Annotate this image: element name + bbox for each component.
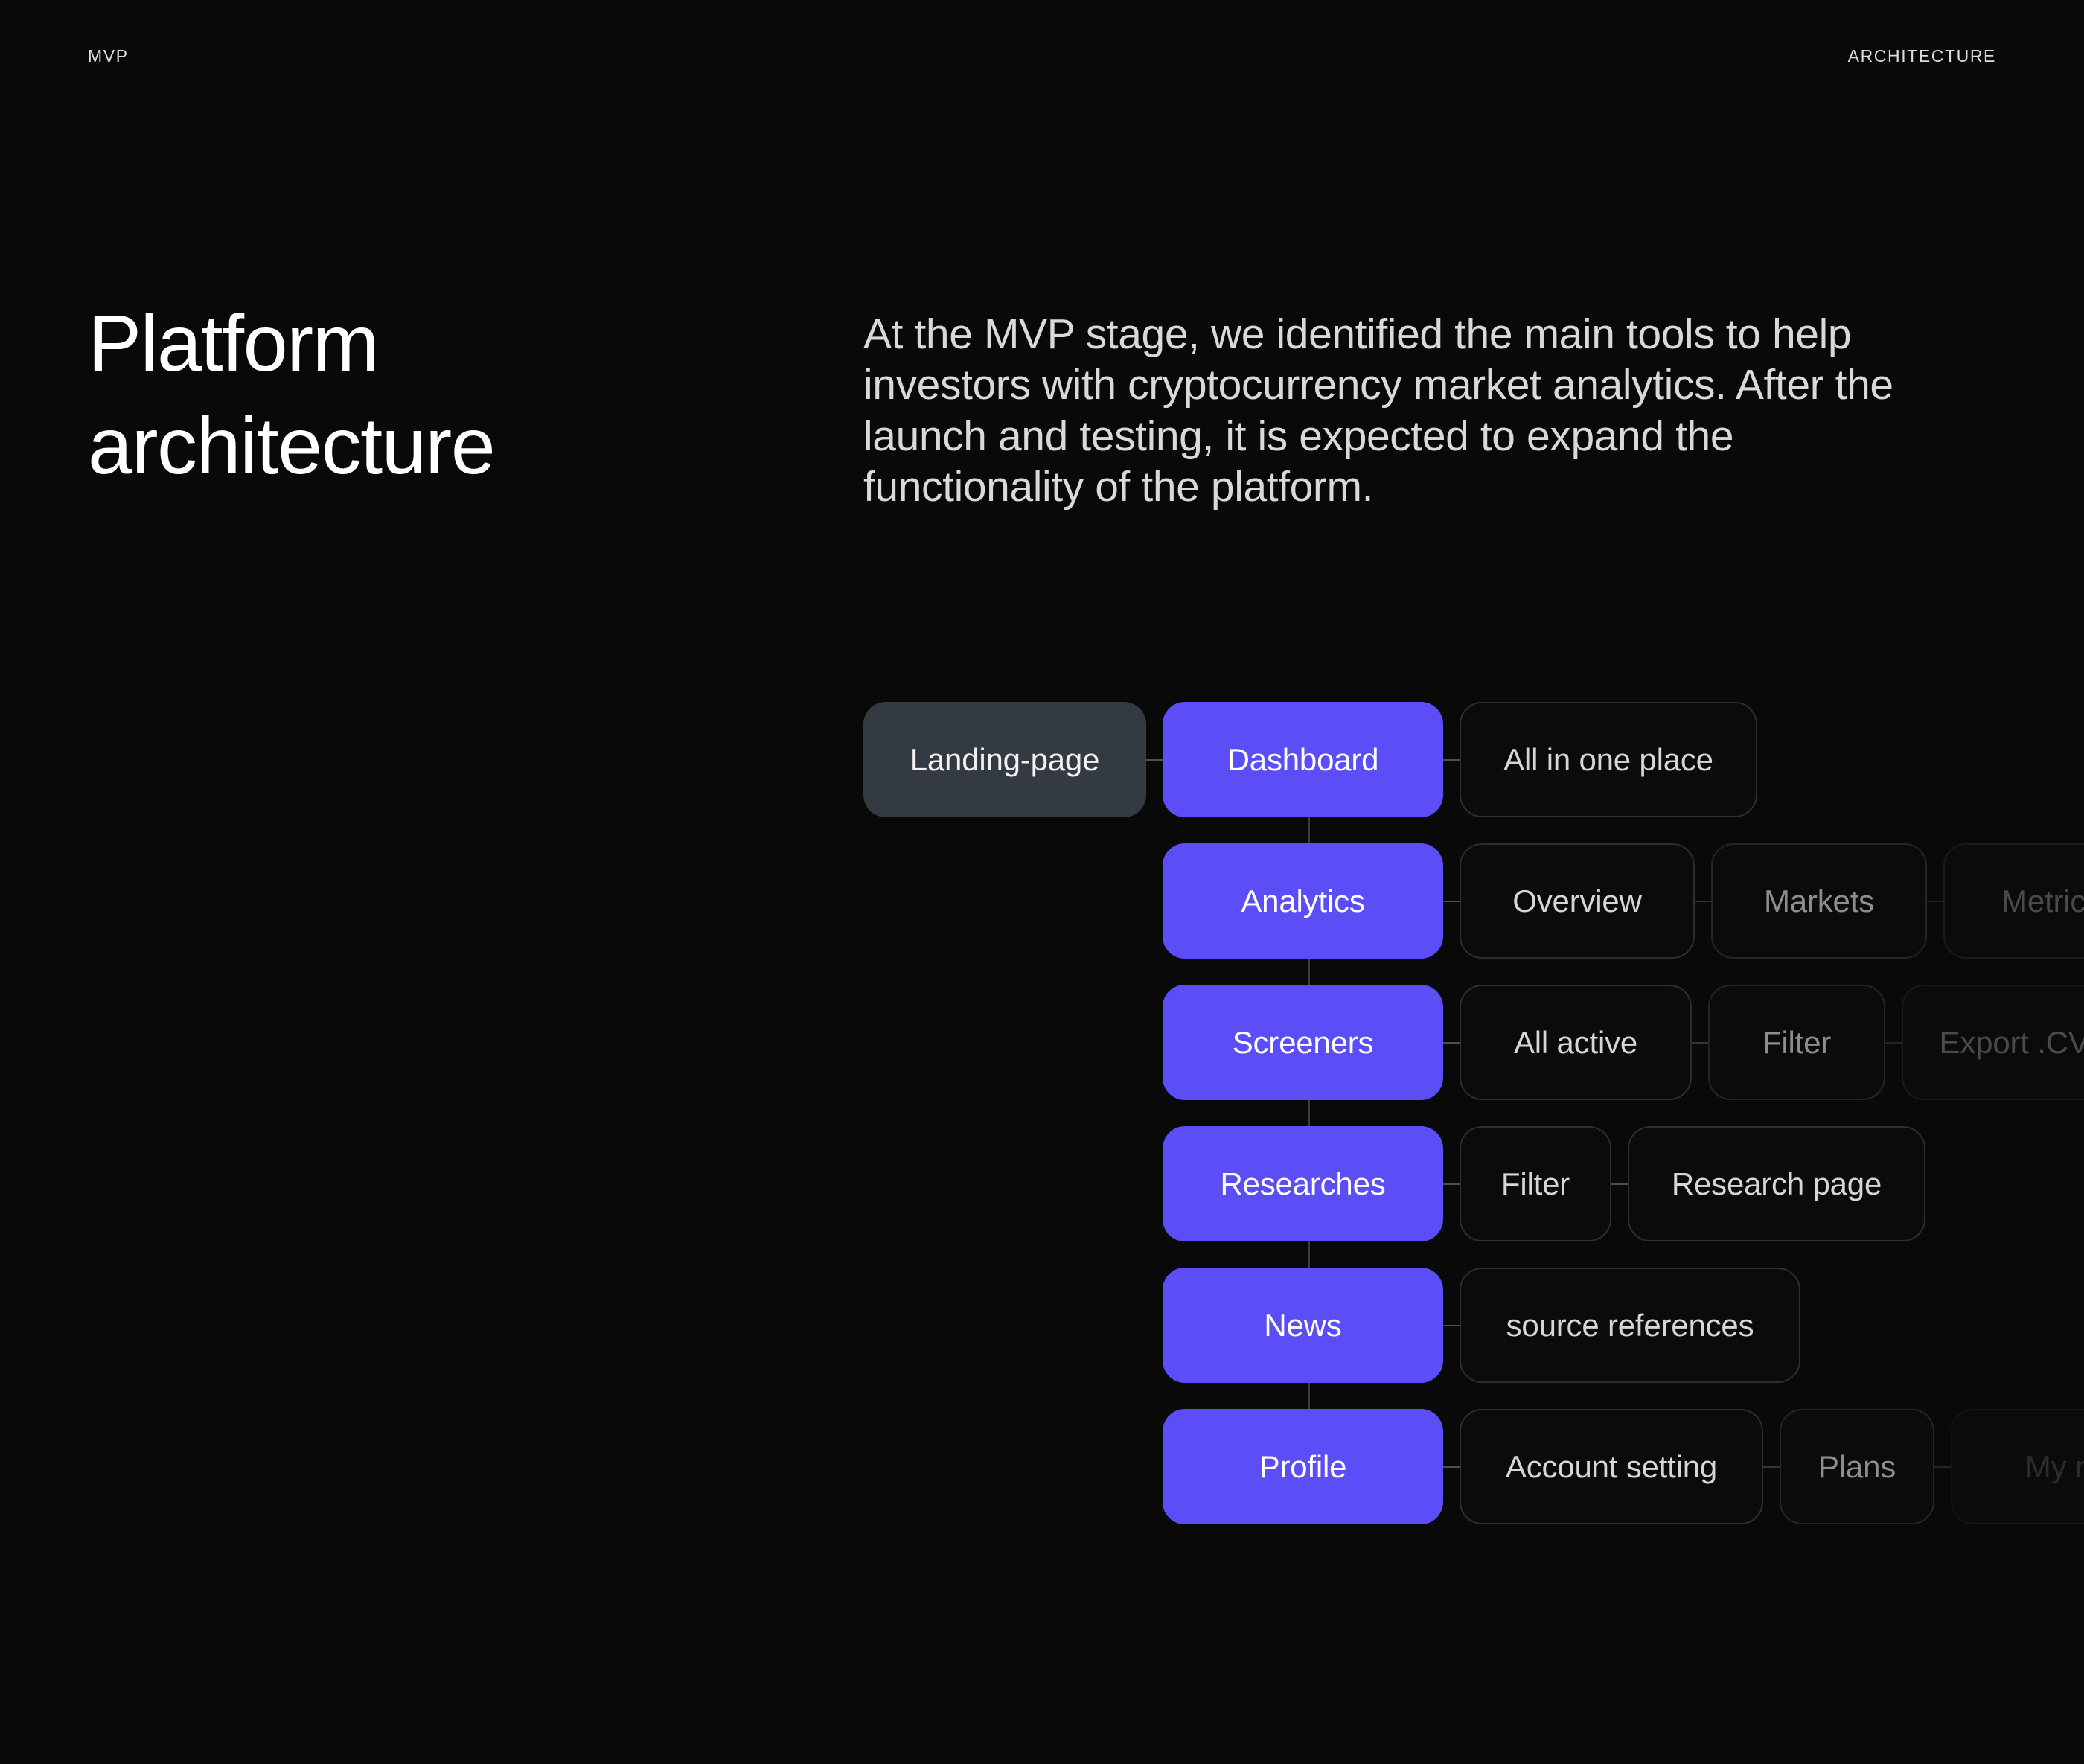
- connector-horizontal: [1927, 901, 1943, 902]
- node-primary-analytics[interactable]: Analytics: [1163, 843, 1443, 959]
- node-child-metrics[interactable]: Metrics: [1943, 843, 2084, 959]
- connector-vertical: [1308, 1383, 1310, 1409]
- diagram-row: ProfileAccount settingPlansMy n: [863, 1409, 2084, 1524]
- connector-horizontal: [1443, 901, 1460, 902]
- connector-horizontal: [1146, 759, 1163, 761]
- node-child-all-active[interactable]: All active: [1460, 985, 1692, 1100]
- node-child-overview[interactable]: Overview: [1460, 843, 1695, 959]
- node-landing-page[interactable]: Landing-page: [863, 702, 1146, 817]
- connector-horizontal: [1934, 1466, 1951, 1468]
- connector-horizontal: [1885, 1042, 1902, 1044]
- node-child-plans[interactable]: Plans: [1780, 1409, 1934, 1524]
- diagram-row: AnalyticsOverviewMarketsMetrics: [863, 843, 2084, 959]
- node-child-research-page[interactable]: Research page: [1628, 1126, 1925, 1241]
- diagram-row: ResearchesFilterResearch page: [863, 1126, 1925, 1241]
- connector-horizontal: [1692, 1042, 1708, 1044]
- connector-vertical: [1308, 817, 1310, 843]
- diagram-row: Newssource references: [863, 1268, 1800, 1383]
- connector-horizontal: [1695, 901, 1711, 902]
- connector-horizontal: [1763, 1466, 1780, 1468]
- connector-vertical: [1308, 1241, 1310, 1268]
- node-child-filter[interactable]: Filter: [1708, 985, 1885, 1100]
- node-child-my-n[interactable]: My n: [1951, 1409, 2084, 1524]
- node-child-export-cvs[interactable]: Export .CVS: [1902, 985, 2084, 1100]
- connector-vertical: [1308, 959, 1310, 985]
- node-primary-dashboard[interactable]: Dashboard: [1163, 702, 1443, 817]
- node-primary-profile[interactable]: Profile: [1163, 1409, 1443, 1524]
- architecture-diagram: Landing-pageDashboardAll in one placeAna…: [0, 0, 2084, 1764]
- connector-horizontal: [1443, 1183, 1460, 1185]
- node-child-all-in-one-place[interactable]: All in one place: [1460, 702, 1757, 817]
- connector-horizontal: [1443, 1042, 1460, 1044]
- connector-horizontal: [1443, 1325, 1460, 1326]
- node-primary-researches[interactable]: Researches: [1163, 1126, 1443, 1241]
- node-primary-news[interactable]: News: [1163, 1268, 1443, 1383]
- connector-horizontal: [1443, 759, 1460, 761]
- node-child-account-setting[interactable]: Account setting: [1460, 1409, 1763, 1524]
- node-child-filter[interactable]: Filter: [1460, 1126, 1611, 1241]
- diagram-row: Landing-pageDashboardAll in one place: [863, 702, 1757, 817]
- node-primary-screeners[interactable]: Screeners: [1163, 985, 1443, 1100]
- connector-vertical: [1308, 1100, 1310, 1126]
- diagram-row: ScreenersAll activeFilterExport .CVS: [863, 985, 2084, 1100]
- connector-horizontal: [1443, 1466, 1460, 1468]
- node-child-source-references[interactable]: source references: [1460, 1268, 1800, 1383]
- connector-horizontal: [1611, 1183, 1628, 1185]
- node-child-markets[interactable]: Markets: [1711, 843, 1927, 959]
